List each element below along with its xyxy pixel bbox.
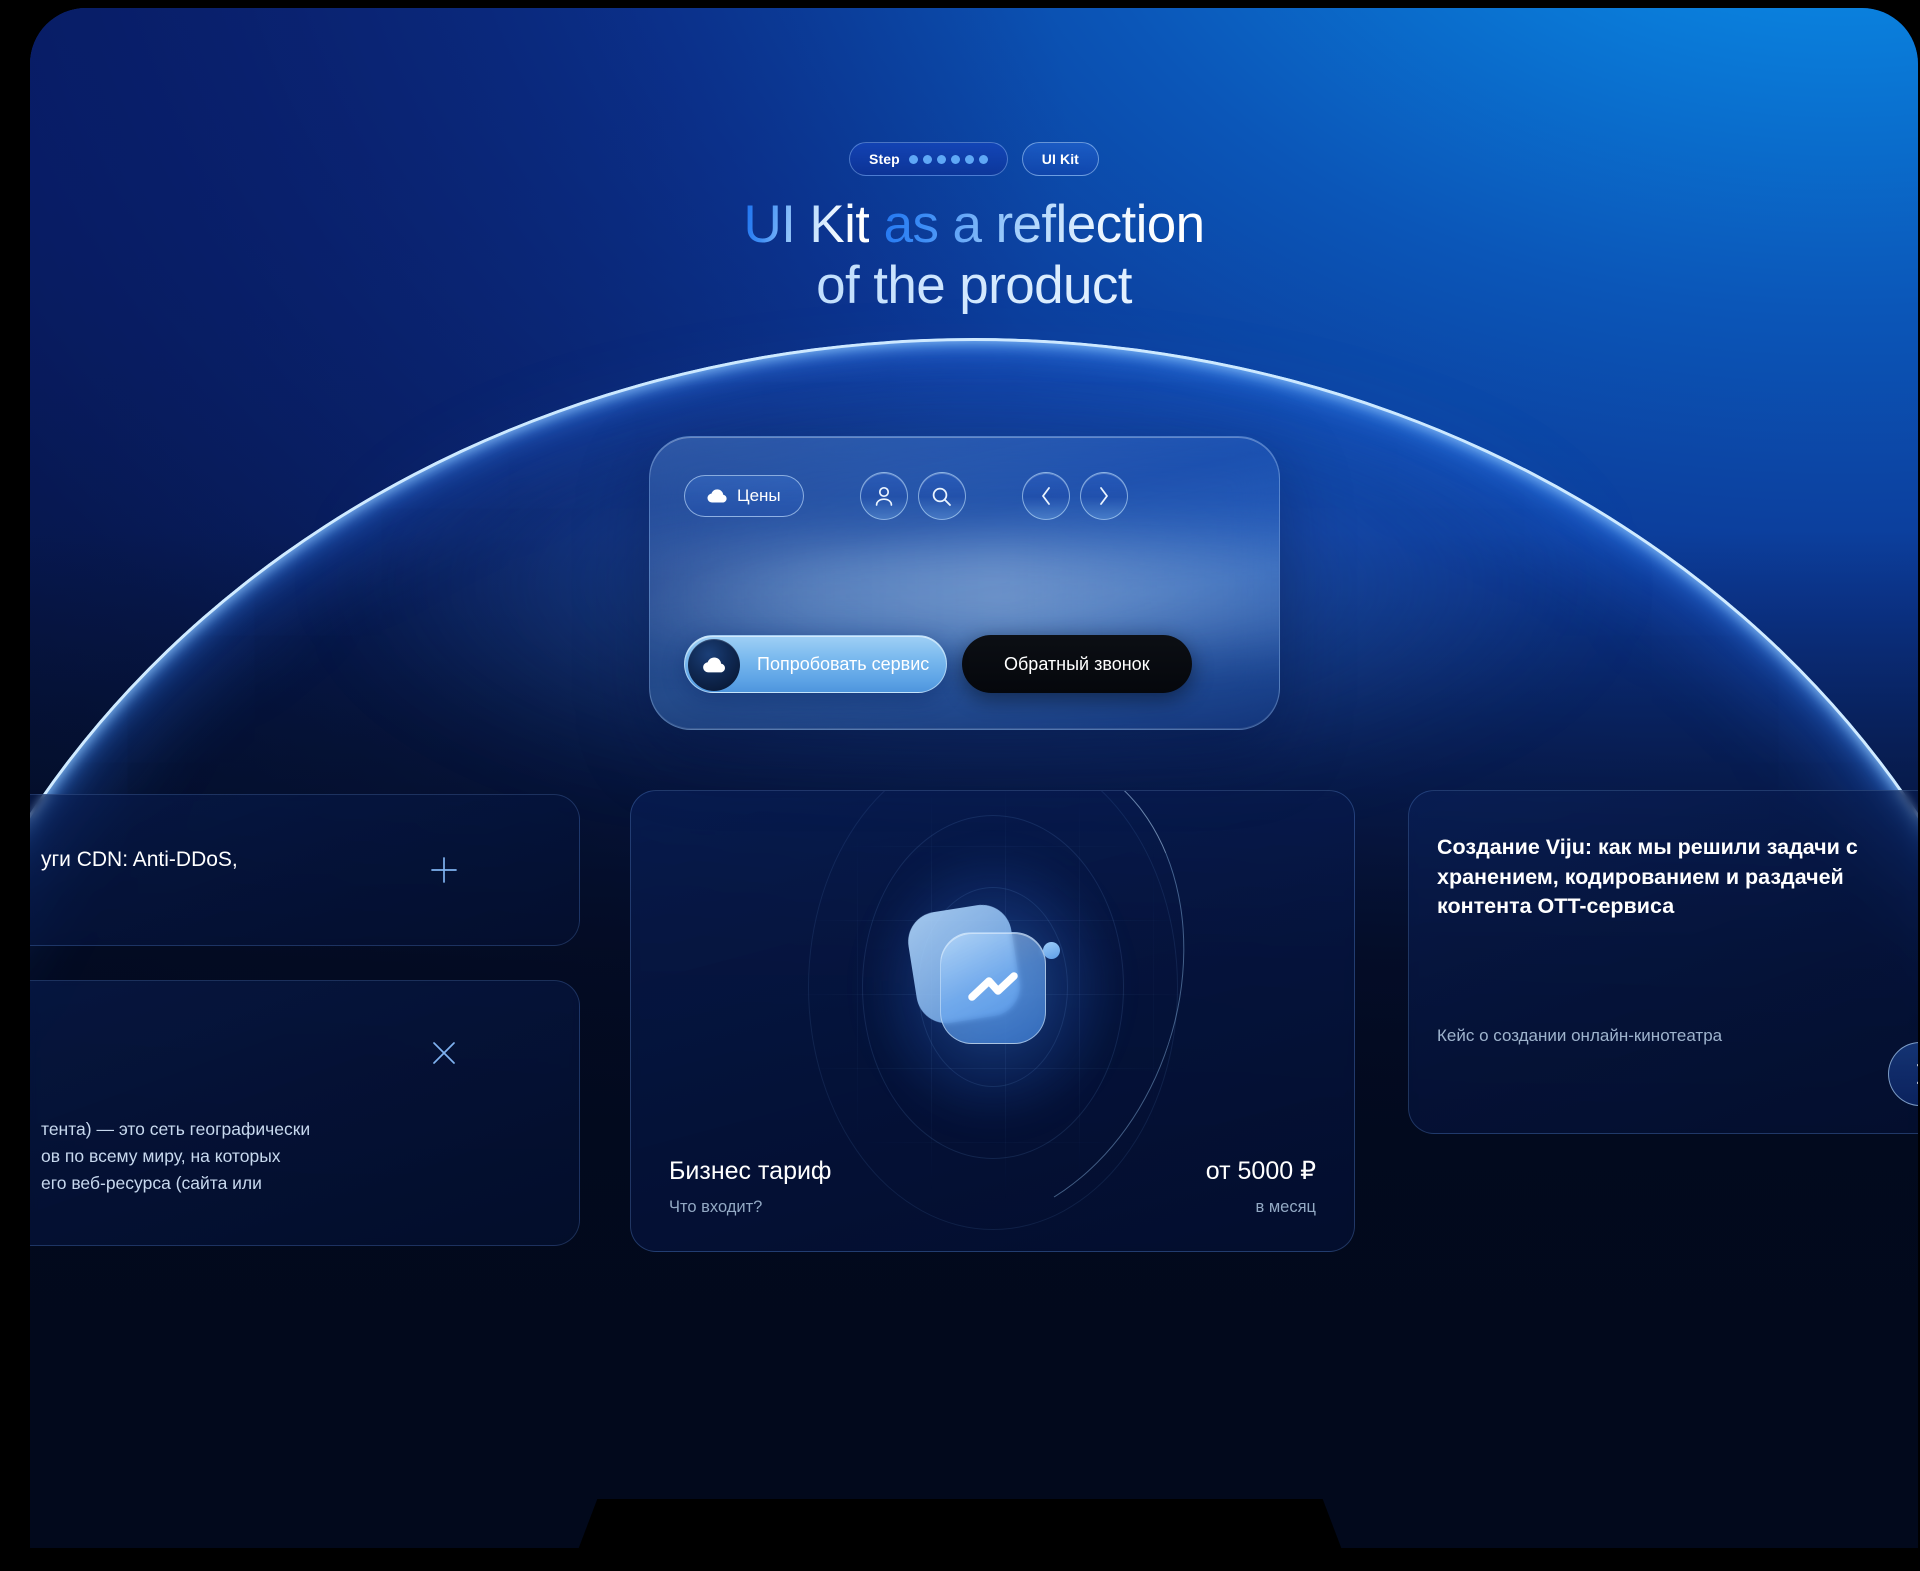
ui-kit-badge-label: UI Kit [1042, 151, 1079, 167]
faq-card-expanded[interactable]: тента) — это сеть географически ов по вс… [30, 980, 580, 1246]
tariff-card[interactable]: Бизнес тариф от 5000 ₽ Что входит? в мес… [630, 790, 1355, 1252]
screen: Step UI Kit UI Kit as a reflection of th… [30, 8, 1918, 1548]
step-badge-label: Step [869, 151, 900, 167]
badge-row: Step UI Kit [30, 142, 1918, 176]
prices-button-label: Цены [737, 486, 781, 506]
callback-button[interactable]: Обратный звонок [962, 635, 1192, 693]
analytics-icon-front-plate [940, 932, 1046, 1044]
carousel-next-button[interactable] [1080, 472, 1128, 520]
tariff-footer: Бизнес тариф от 5000 ₽ Что входит? в мес… [669, 1156, 1316, 1217]
try-service-button[interactable]: Попробовать сервис [684, 635, 947, 693]
carousel-prev-button[interactable] [1022, 472, 1070, 520]
tariff-title: Бизнес тариф [669, 1157, 832, 1186]
faq-line-3: его веб-ресурса (сайта или [41, 1170, 461, 1197]
callback-label: Обратный звонок [1004, 654, 1150, 675]
step-dots [909, 155, 988, 164]
page-title-line1: UI Kit as a reflection [30, 194, 1918, 255]
chevron-left-icon [1040, 486, 1052, 506]
page-title-line2: of the product [30, 255, 1918, 316]
tariff-price: от 5000 ₽ [1206, 1156, 1316, 1186]
analytics-chart-icon [934, 928, 1052, 1046]
user-icon [874, 485, 894, 507]
close-icon[interactable] [427, 1036, 461, 1070]
try-service-knob [688, 639, 740, 691]
faq-card-expanded-text: тента) — это сеть географически ов по вс… [41, 1116, 461, 1197]
faq-card-collapsed[interactable]: уги CDN: Anti-DDoS, [30, 794, 580, 946]
cloud-icon [707, 489, 727, 503]
faq-line-2: ов по всему миру, на которых [41, 1143, 461, 1170]
prices-button[interactable]: Цены [684, 475, 804, 517]
plus-icon[interactable] [427, 853, 461, 887]
cloud-icon [702, 657, 726, 673]
page-title-accent: UI Kit [743, 195, 869, 254]
cta-row: Попробовать сервис Обратный звонок [684, 635, 1245, 693]
step-badge[interactable]: Step [849, 142, 1008, 176]
tariff-period: в месяц [1255, 1198, 1316, 1217]
search-icon [931, 486, 952, 507]
page-title: UI Kit as a reflection of the product [30, 194, 1918, 317]
account-button[interactable] [860, 472, 908, 520]
search-button[interactable] [918, 472, 966, 520]
chevron-right-icon [1098, 486, 1110, 506]
device-stand [570, 1499, 1350, 1571]
case-study-title: Создание Viju: как мы решили задачи с хр… [1437, 833, 1907, 922]
page-title-rest: as a reflection [869, 195, 1204, 254]
chevron-right-icon [1914, 1063, 1919, 1085]
tariff-whats-included-link[interactable]: Что входит? [669, 1198, 762, 1217]
glass-toolbar: Цены [684, 472, 1245, 520]
try-service-label: Попробовать сервис [757, 654, 929, 675]
device-frame: Step UI Kit UI Kit as a reflection of th… [0, 0, 1920, 1571]
faq-line-1: тента) — это сеть географически [41, 1116, 461, 1143]
analytics-icon-dot [1043, 942, 1060, 959]
faq-card-collapsed-text: уги CDN: Anti-DDoS, [41, 848, 238, 872]
case-study-card[interactable]: Создание Viju: как мы решили задачи с хр… [1408, 790, 1918, 1134]
card-row: уги CDN: Anti-DDoS, тента) — это сеть ге… [30, 794, 1918, 1264]
glass-sheen [649, 542, 1280, 641]
case-study-subtitle: Кейс о создании онлайн-кинотеатра [1437, 1023, 1757, 1049]
glass-panel: Цены [649, 436, 1280, 730]
ui-kit-badge[interactable]: UI Kit [1022, 142, 1099, 176]
